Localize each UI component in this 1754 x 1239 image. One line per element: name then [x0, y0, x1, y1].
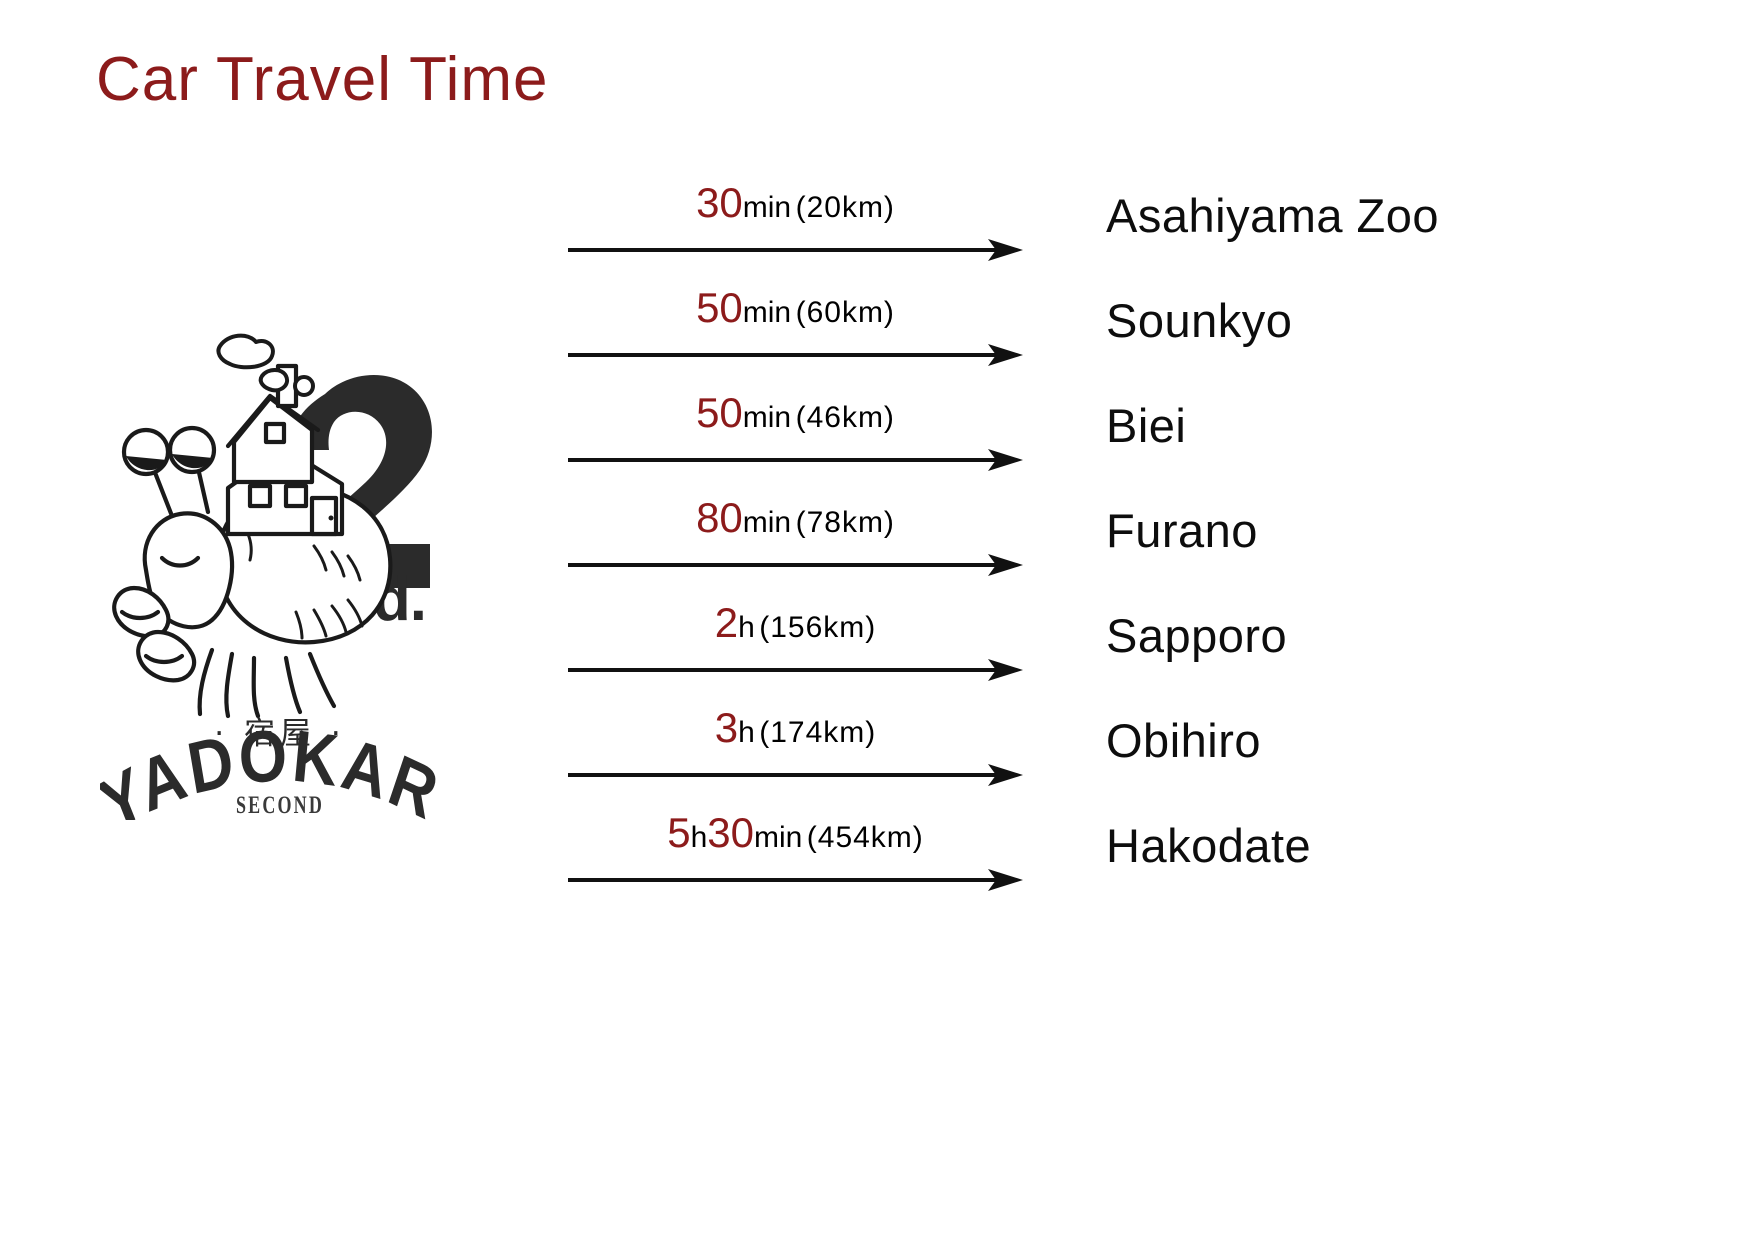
route-row: 3h (174km) Obihiro — [568, 707, 1708, 813]
route-time-value: 2 — [715, 599, 738, 646]
route-arrow-icon — [568, 447, 1023, 473]
route-row: 2h (156km) Sapporo — [568, 602, 1708, 708]
route-destination: Obihiro — [1106, 713, 1261, 768]
route-time-value: 80 — [696, 494, 743, 541]
route-duration-label: 3h (174km) — [568, 707, 1023, 749]
route-destination: Sounkyo — [1106, 293, 1292, 348]
route-time-unit: min — [743, 506, 791, 539]
route-row: 30min (20km) Asahiyama Zoo — [568, 182, 1708, 288]
route-distance: (46km) — [796, 401, 895, 434]
route-time-value: 50 — [696, 284, 743, 331]
route-row: 80min (78km) Furano — [568, 497, 1708, 603]
route-time-unit: min — [743, 191, 791, 224]
route-duration-label: 80min (78km) — [568, 497, 1023, 539]
route-distance: (20km) — [796, 191, 895, 224]
route-list: 30min (20km) Asahiyama Zoo 50min (60km) … — [0, 0, 1754, 1239]
route-arrow-icon — [568, 552, 1023, 578]
route-time-unit: h — [738, 716, 755, 749]
slide-root: { "title": "Car Travel Time", "colors": … — [0, 0, 1754, 1239]
route-time-unit: min — [743, 296, 791, 329]
route-duration-label: 5h30min (454km) — [568, 812, 1023, 854]
route-duration-label: 30min (20km) — [568, 182, 1023, 224]
route-time-value: 5 — [667, 809, 690, 856]
route-destination: Asahiyama Zoo — [1106, 188, 1439, 243]
route-arrow-icon — [568, 867, 1023, 893]
route-distance: (454km) — [807, 821, 924, 854]
route-time-value: 3 — [715, 704, 738, 751]
route-arrow-icon — [568, 342, 1023, 368]
route-destination: Sapporo — [1106, 608, 1287, 663]
route-time-value-2: 30 — [707, 809, 754, 856]
route-destination: Hakodate — [1106, 818, 1311, 873]
route-time-value: 30 — [696, 179, 743, 226]
route-arrow-icon — [568, 762, 1023, 788]
route-duration-label: 2h (156km) — [568, 602, 1023, 644]
route-time-unit: h — [738, 611, 755, 644]
route-duration-label: 50min (60km) — [568, 287, 1023, 329]
route-distance: (78km) — [796, 506, 895, 539]
route-time-unit-2: min — [754, 821, 802, 854]
route-arrow-icon — [568, 237, 1023, 263]
route-row: 50min (60km) Sounkyo — [568, 287, 1708, 393]
route-distance: (60km) — [796, 296, 895, 329]
route-destination: Biei — [1106, 398, 1186, 453]
route-duration-label: 50min (46km) — [568, 392, 1023, 434]
route-row: 5h30min (454km) Hakodate — [568, 812, 1708, 918]
route-destination: Furano — [1106, 503, 1258, 558]
route-time-unit: min — [743, 401, 791, 434]
route-row: 50min (46km) Biei — [568, 392, 1708, 498]
route-time-value: 50 — [696, 389, 743, 436]
route-arrow-icon — [568, 657, 1023, 683]
route-time-unit: h — [691, 821, 708, 854]
route-distance: (174km) — [759, 716, 876, 749]
route-distance: (156km) — [759, 611, 876, 644]
